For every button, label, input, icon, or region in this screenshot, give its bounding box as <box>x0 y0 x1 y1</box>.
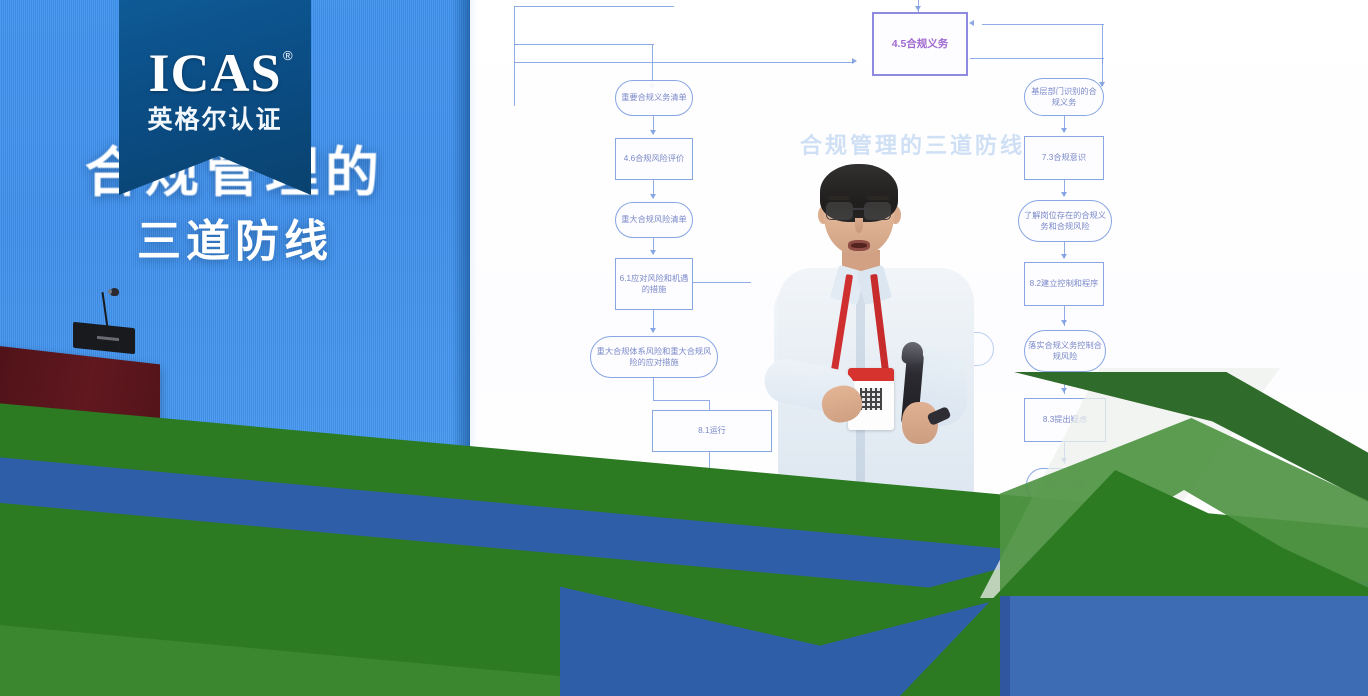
flow-node-7-3[interactable]: 7.3合规意识 <box>1024 136 1104 180</box>
flow-arrow <box>1061 192 1067 197</box>
flow-arrow <box>1061 128 1067 133</box>
badge-header-strip <box>848 368 894 381</box>
flow-node-major-measures[interactable]: 重大合规体系风险和重大合规风险的应对措施 <box>590 336 718 378</box>
flow-line <box>693 282 751 283</box>
flow-node-6-1[interactable]: 6.1应对风险和机遇的措施 <box>615 258 693 310</box>
microphone-head-icon <box>901 341 924 365</box>
badge-qr-code-icon <box>860 388 882 410</box>
flow-line <box>709 400 710 410</box>
flow-node-implement-obligations[interactable]: 落实合规义务控制合规风险 <box>1024 330 1106 372</box>
flow-arrow <box>915 6 921 11</box>
flow-arrow <box>650 250 656 255</box>
flow-node-4-5[interactable]: 4.5合规义务 <box>872 12 968 76</box>
gooseneck-microphone-highlight <box>108 289 112 294</box>
flow-arrow <box>1061 320 1067 325</box>
flow-line <box>514 62 515 106</box>
speaker-eyebrow-left <box>828 196 850 200</box>
eyeglasses-bridge <box>853 208 864 210</box>
flow-line <box>970 58 1104 59</box>
flow-line <box>653 400 709 401</box>
flow-node-base-dept-obligations[interactable]: 基层部门识别的合规义务 <box>1024 78 1104 116</box>
flow-line <box>514 62 854 63</box>
flow-arrow <box>1061 388 1067 393</box>
flow-node-4-6[interactable]: 4.6合规风险评价 <box>615 138 693 180</box>
flow-arrow <box>650 194 656 199</box>
flow-arrow <box>650 130 656 135</box>
speaker-mouth-inner <box>851 243 867 248</box>
flow-line <box>514 6 674 7</box>
flow-arrow <box>1061 254 1067 259</box>
conference-stage-photo: 4.5合规义务 重要合规义务清单 4.6合规风险评价 重大合规风险清单 6.1应… <box>0 0 1368 696</box>
speaker-eyebrow-right <box>867 196 889 200</box>
eyeglasses-lens-left <box>826 202 853 220</box>
flow-node-important-obligation-list[interactable]: 重要合规义务清单 <box>615 80 693 116</box>
flow-node-major-risk-list[interactable]: 重大合规风险清单 <box>615 202 693 238</box>
decorative-chevron-blue-right <box>1010 596 1368 696</box>
flow-line <box>982 24 1104 25</box>
flow-node-8-2[interactable]: 8.2建立控制和程序 <box>1024 262 1104 306</box>
flow-arrow <box>650 328 656 333</box>
flow-node-post-awareness[interactable]: 了解岗位存在的合规义务和合规风险 <box>1018 200 1112 242</box>
icas-chinese-name: 英格尔认证 <box>119 100 311 136</box>
flow-node-8-1[interactable]: 8.1运行 <box>652 410 772 452</box>
registered-trademark-icon: ® <box>283 48 293 63</box>
eyeglasses-lens-right <box>864 202 891 220</box>
speaker-nose <box>855 218 863 233</box>
flow-line <box>653 378 654 400</box>
flow-line <box>514 44 654 45</box>
flow-arrow <box>969 20 974 26</box>
wall-headline-line-2: 三道防线 <box>0 205 470 269</box>
flow-arrow <box>852 58 857 64</box>
flow-line <box>514 6 515 62</box>
